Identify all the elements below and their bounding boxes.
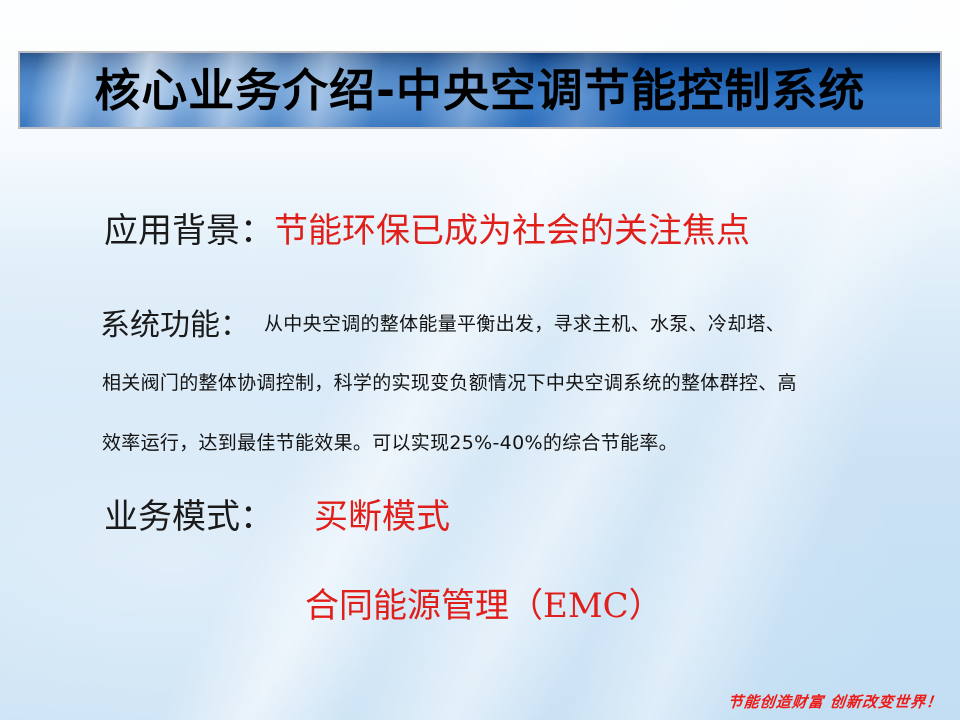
section-business-mode: 业务模式：买断模式 (104, 489, 450, 538)
business-mode-option-emc: 合同能源管理（EMC） (305, 586, 663, 626)
slide-canvas: 核心业务介绍-中央空调节能控制系统 应用背景：节能环保已成为社会的关注焦点 系统… (0, 0, 960, 720)
system-function-label: 系统功能： (100, 308, 250, 343)
section-system-function: 系统功能：从中央空调的整体能量平衡出发，寻求主机、水泵、冷却塔、 (100, 300, 785, 344)
application-background-value: 节能环保已成为社会的关注焦点 (274, 211, 750, 251)
business-mode-option-buyout: 买断模式 (274, 497, 450, 537)
footer-slogan: 节能创造财富 创新改变世界！ (727, 691, 943, 712)
system-function-line-3: 效率运行，达到最佳节能效果。可以实现25%-40%的综合节能率。 (102, 428, 678, 455)
section-application-background: 应用背景：节能环保已成为社会的关注焦点 (104, 203, 750, 252)
page-title: 核心业务介绍-中央空调节能控制系统 (95, 68, 866, 113)
system-function-line-1: 从中央空调的整体能量平衡出发，寻求主机、水泵、冷却塔、 (250, 313, 785, 335)
business-mode-option-emc-row: 合同能源管理（EMC） (305, 578, 663, 627)
application-background-label: 应用背景： (104, 211, 274, 251)
system-function-line-2: 相关阀门的整体协调控制，科学的实现变负额情况下中央空调系统的整体群控、高 (102, 368, 797, 395)
title-banner: 核心业务介绍-中央空调节能控制系统 (18, 51, 942, 129)
business-mode-label: 业务模式： (104, 497, 274, 537)
